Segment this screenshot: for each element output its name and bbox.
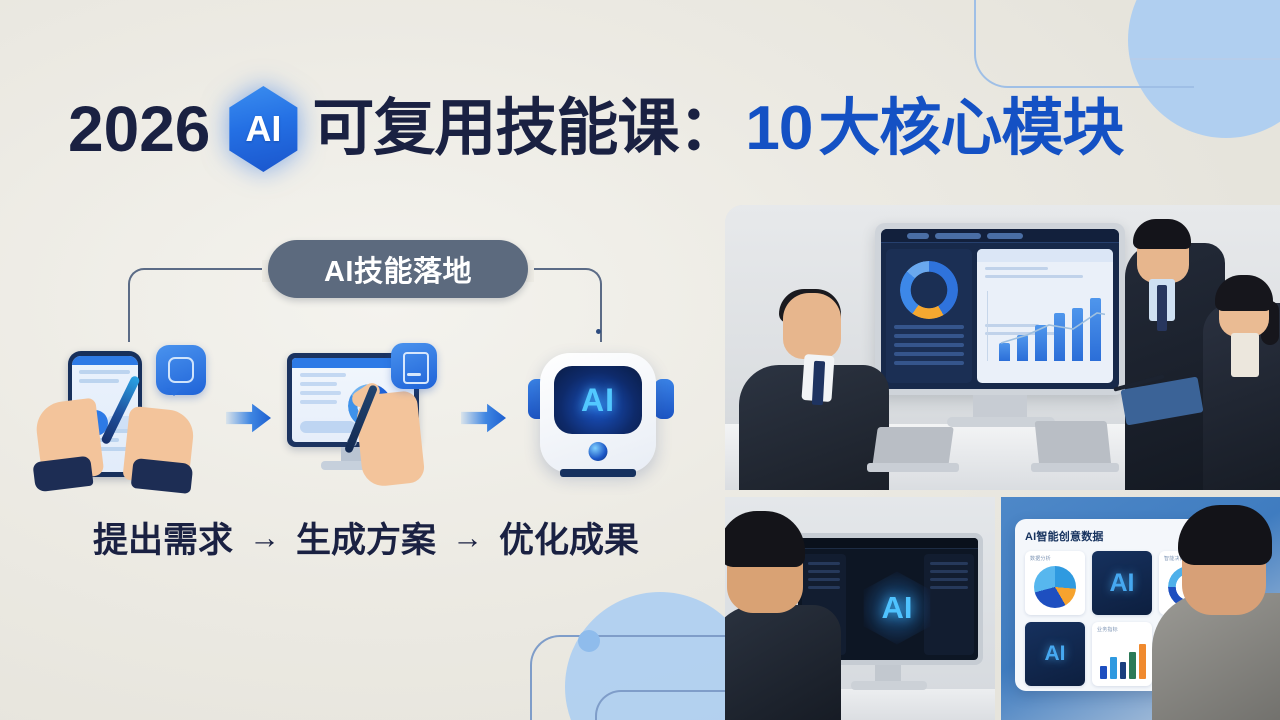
flow-pill-label: AI技能落地 — [324, 248, 472, 290]
bar — [1110, 657, 1117, 679]
laptop-left — [872, 427, 954, 467]
title-dark-part: 可复用技能课： — [312, 98, 739, 160]
meeting-room-dashboard-photo — [725, 205, 1280, 490]
bar-chart-icon — [1100, 641, 1146, 679]
monitor-text-line — [300, 382, 337, 386]
robot-ear-right — [654, 379, 674, 419]
donut-chart — [900, 261, 958, 319]
panel-text-line — [985, 267, 1048, 270]
step-separator-icon: → — [450, 522, 485, 553]
chat-bubble-icon — [156, 345, 206, 395]
sidebar-row — [894, 352, 964, 356]
decor-line-top-right — [1130, 0, 1280, 60]
bar — [1100, 666, 1107, 679]
decor-dot-bottom — [578, 630, 600, 652]
bar — [1120, 662, 1127, 679]
step-label-2: 生成方案 — [296, 512, 436, 563]
decor-circle-top-right — [1128, 0, 1280, 138]
flow-icon-slot-1 — [36, 338, 226, 498]
bar — [1139, 644, 1146, 679]
large-monitor — [875, 223, 1125, 395]
bar-line-chart — [987, 291, 1105, 361]
imac-stand-neck — [875, 665, 901, 681]
monitor-stand — [973, 395, 1027, 417]
panel-row — [930, 578, 968, 581]
flow-step-labels: 提出需求 → 生成方案 → 优化成果 — [36, 512, 696, 563]
ai-tile-label: AI — [1045, 642, 1066, 666]
ai-hologram-icon: AI — [860, 570, 934, 646]
flow-pill-badge: AI技能落地 — [268, 240, 528, 298]
panel-header — [977, 249, 1113, 262]
bar — [1129, 652, 1136, 679]
arrow-right-icon — [461, 401, 506, 435]
ai-tile-label: AI — [1110, 569, 1135, 598]
arrow-right-icon — [226, 401, 271, 435]
chart-trend-line — [987, 291, 1105, 357]
panel-row — [930, 562, 968, 565]
woman-blouse — [1231, 333, 1259, 377]
step-label-1: 提出需求 — [93, 512, 233, 563]
title-number: 10 — [745, 98, 812, 160]
step-label-3: 优化成果 — [499, 512, 639, 563]
board-card-ai-small: AI — [1025, 622, 1085, 686]
sidebar-row — [894, 334, 964, 338]
robot-face-label: AI — [581, 382, 615, 419]
imac-stand-foot — [851, 681, 927, 690]
monitor-text-line — [300, 391, 341, 395]
robot-lens-button — [589, 442, 608, 461]
decor-outline-bottom-inner — [595, 690, 745, 720]
flow-icon-slot-2 — [271, 338, 461, 498]
monitor-text-line — [300, 400, 337, 404]
panel-row — [930, 586, 968, 589]
toolbar-chip — [907, 233, 929, 239]
ai-robot-icon: AI — [508, 339, 694, 497]
flow-arrow-slot-1 — [226, 338, 271, 498]
screen-right-panel — [924, 554, 974, 655]
sidebar-list — [886, 325, 972, 365]
ai-badge-label: AI — [245, 108, 281, 150]
panel-row — [808, 586, 840, 589]
left-sleeve-cuff — [32, 456, 93, 493]
decor-outline-bottom-outer — [530, 635, 745, 720]
card-label: 数据分析 — [1030, 555, 1051, 562]
title-blue-part: 大核心模块 — [818, 98, 1123, 160]
flow-arrow-slot-2 — [461, 338, 506, 498]
analyst-ai-screen-photo: AI — [725, 497, 995, 720]
chat-bubble-glyph — [168, 357, 194, 383]
screen-sidebar — [886, 249, 972, 383]
robot-face-screen: AI — [554, 366, 642, 434]
sidebar-row — [894, 343, 964, 347]
ai-hexagon-badge-icon: AI — [226, 86, 300, 172]
robot-antenna-dot — [596, 329, 601, 334]
poster-canvas: 2026 AI 可复用技能课： 10 大核心模块 AI技能落地 — [0, 0, 1280, 720]
laptop-left-base — [867, 463, 959, 472]
card-label: 业务指标 — [1097, 626, 1118, 633]
laptop-right-base — [1031, 463, 1119, 472]
phone-text-line — [79, 370, 130, 374]
robot-base-shape — [560, 469, 636, 477]
phone-in-hands-icon — [38, 339, 224, 497]
decor-outline-top-right — [974, 0, 1194, 88]
title-year: 2026 — [68, 97, 210, 161]
toolbar-chip — [987, 233, 1023, 239]
panel-row — [808, 578, 840, 581]
monitor-screen-content — [881, 229, 1119, 389]
phone-text-line — [79, 379, 119, 383]
seated-man-tie — [812, 361, 825, 406]
photo-collage: AI AI智能创意数据 数据分析 — [725, 205, 1280, 720]
monitor-button-block — [300, 421, 356, 433]
page-title: 2026 AI 可复用技能课： 10 大核心模块 — [68, 86, 1123, 172]
laptop-right — [1035, 421, 1112, 467]
seated-man-head — [783, 293, 841, 359]
panel-text-line — [985, 275, 1083, 278]
ai-hologram-label: AI — [882, 590, 913, 626]
robot-head-shape: AI — [540, 353, 656, 473]
board-card-bar: 业务指标 — [1092, 622, 1152, 686]
panel-row — [930, 570, 968, 573]
presentation-board-photo: AI智能创意数据 数据分析 AI 智能决策 — [1001, 497, 1280, 720]
flow-icons-row: AI — [36, 338, 696, 498]
standing-man-hair — [1133, 219, 1191, 249]
monitor-text-line — [300, 373, 346, 377]
pie-chart-icon — [1034, 566, 1076, 608]
screen-toolbar — [798, 538, 978, 549]
standing-man-tie — [1157, 285, 1167, 331]
right-sleeve-cuff — [131, 458, 194, 494]
tablet-icon — [391, 343, 437, 389]
board-card-ai-large: AI — [1092, 551, 1152, 615]
board-card-pie: 数据分析 — [1025, 551, 1085, 615]
panel-row — [808, 570, 840, 573]
step-separator-icon: → — [247, 522, 282, 553]
flow-icon-slot-3: AI — [506, 338, 696, 498]
desktop-dashboard-icon — [273, 339, 459, 497]
sidebar-row — [894, 325, 964, 329]
toolbar-chip — [935, 233, 981, 239]
screen-main-panel — [977, 249, 1113, 383]
panel-row — [808, 562, 840, 565]
analyst-body — [725, 605, 841, 720]
presenter-hair — [1178, 505, 1272, 565]
phone-status-bar — [72, 356, 138, 365]
sidebar-row — [894, 361, 964, 365]
